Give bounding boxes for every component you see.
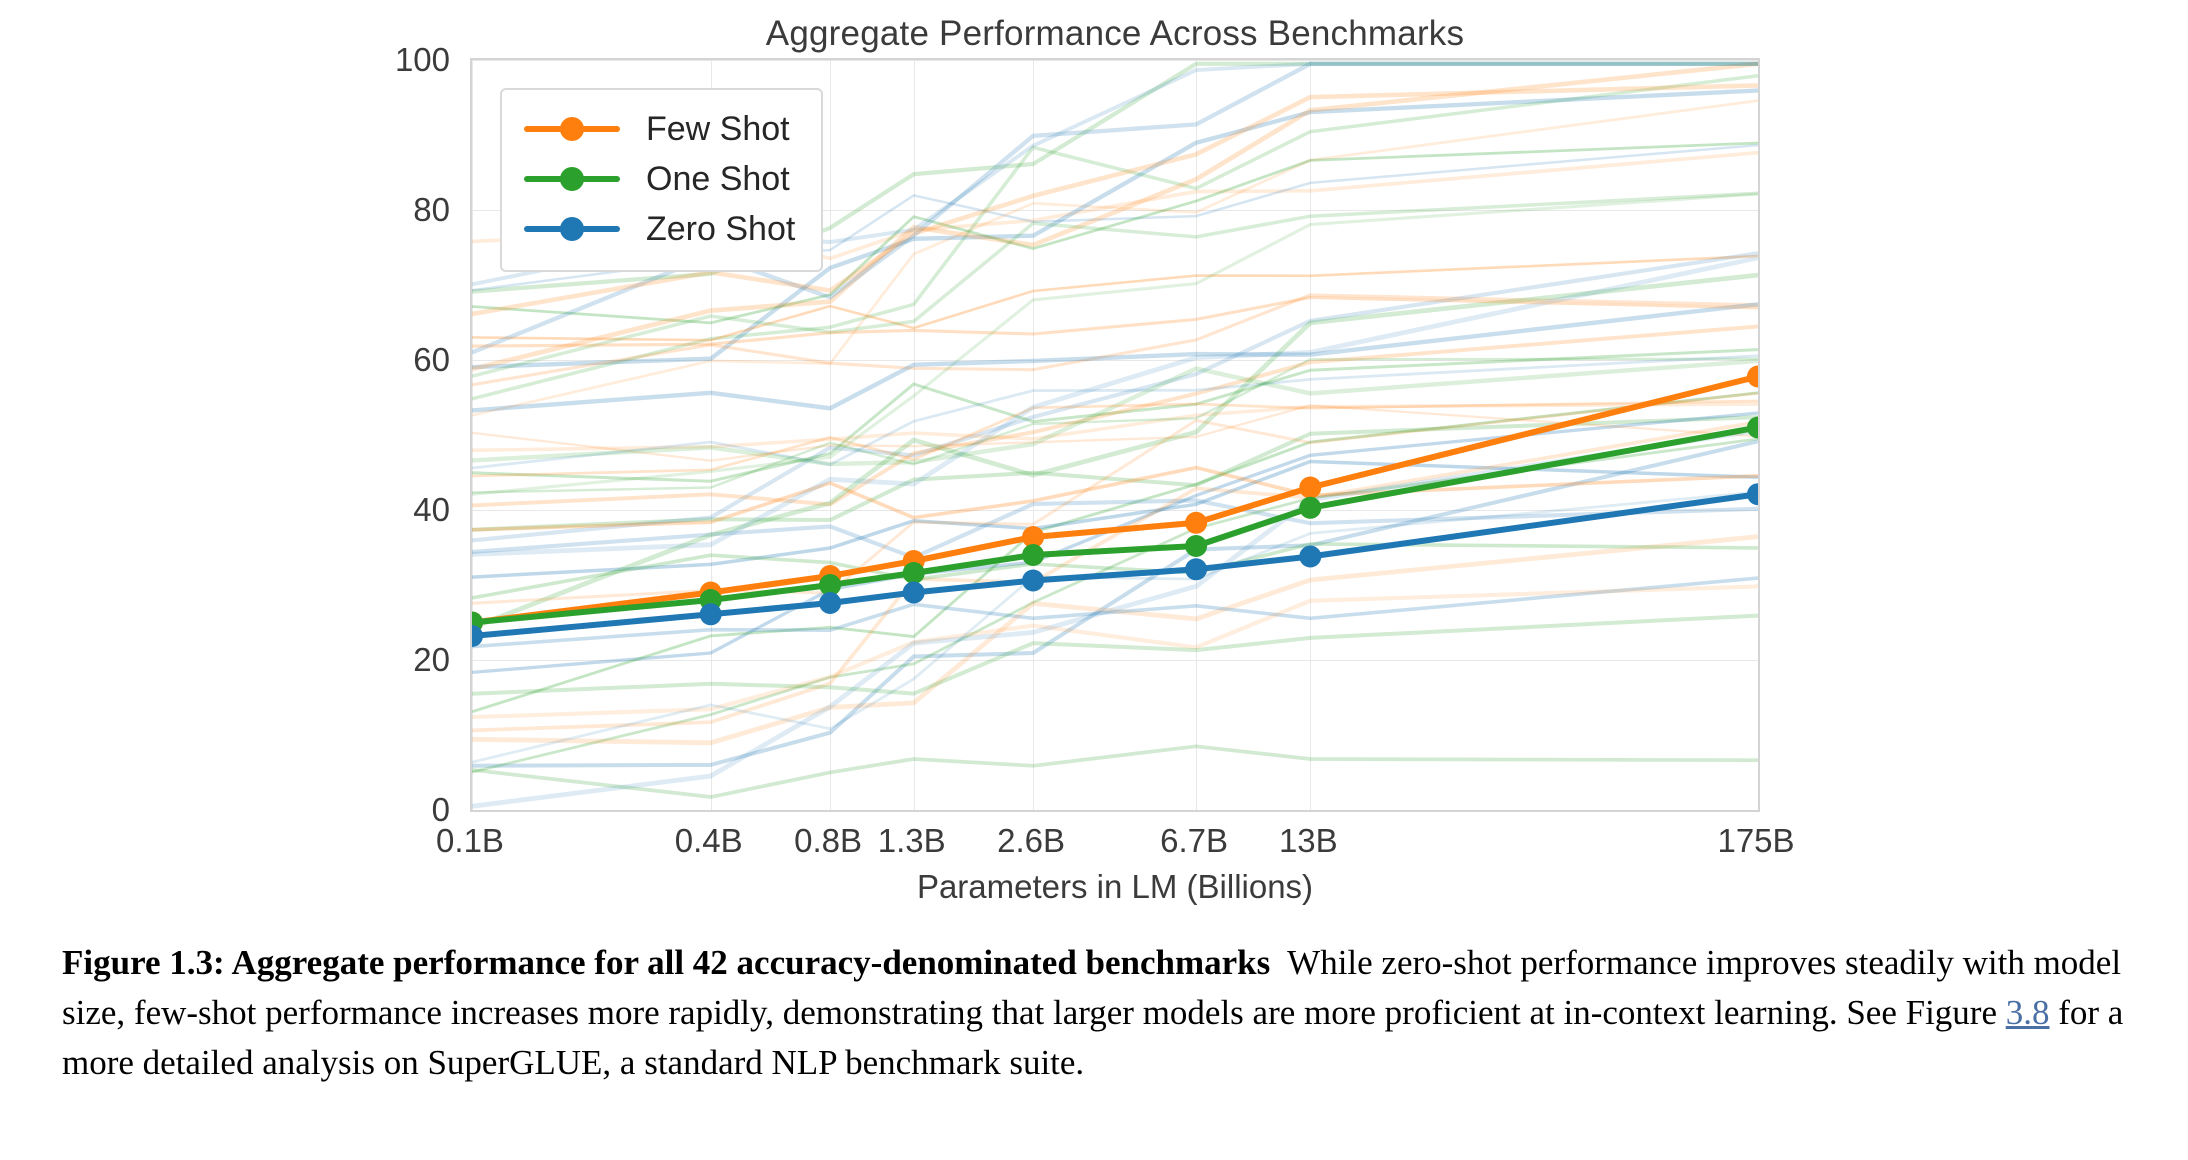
legend-marker-few-shot [524, 119, 620, 139]
figure-3-8-link[interactable]: 3.8 [2006, 993, 2050, 1032]
y-axis-tick-label: 60 [330, 341, 450, 379]
x-axis-tick-label: 0.1B [436, 822, 504, 860]
y-axis-tick-label: 0 [330, 791, 450, 829]
x-axis-tick-label: 2.6B [997, 822, 1065, 860]
chart-title: Aggregate Performance Across Benchmarks [470, 14, 1760, 54]
y-axis-ticks: 020406080100 [330, 58, 450, 812]
data-point-zero-shot [903, 582, 925, 604]
legend-item-one-shot[interactable]: One Shot [524, 154, 795, 204]
data-point-one-shot [1185, 535, 1207, 557]
data-point-one-shot [903, 562, 925, 584]
figure-1-3: Aggregate Performance Across Benchmarks … [0, 0, 2188, 900]
data-point-zero-shot [1185, 558, 1207, 580]
data-point-few-shot [1747, 366, 1758, 388]
data-point-zero-shot [1022, 570, 1044, 592]
data-point-zero-shot [1299, 546, 1321, 568]
data-point-few-shot [1185, 512, 1207, 534]
data-point-one-shot [1299, 497, 1321, 519]
plot-area: Few Shot One Shot Zero Shot [470, 58, 1760, 812]
chart: Aggregate Performance Across Benchmarks … [0, 0, 2188, 900]
legend-marker-zero-shot [524, 219, 620, 239]
data-point-one-shot [1022, 544, 1044, 566]
y-axis-tick-label: 100 [330, 41, 450, 79]
legend-label-few-shot: Few Shot [646, 110, 790, 149]
y-axis-tick-label: 80 [330, 191, 450, 229]
data-point-zero-shot [819, 592, 841, 614]
data-point-few-shot [1299, 477, 1321, 499]
legend-marker-one-shot [524, 169, 620, 189]
x-axis-tick-label: 1.3B [878, 822, 946, 860]
y-axis-tick-label: 20 [330, 641, 450, 679]
x-axis-tick-label: 175B [1717, 822, 1794, 860]
legend-label-one-shot: One Shot [646, 160, 790, 199]
caption-bold-lead: Figure 1.3: Aggregate performance for al… [62, 943, 1270, 982]
series-line-few-shot [472, 377, 1758, 623]
x-axis-tick-label: 6.7B [1160, 822, 1228, 860]
x-axis-label: Parameters in LM (Billions) [470, 868, 1760, 906]
data-point-zero-shot [700, 603, 722, 625]
data-point-one-shot [1747, 417, 1758, 439]
legend-label-zero-shot: Zero Shot [646, 210, 795, 249]
legend-item-zero-shot[interactable]: Zero Shot [524, 204, 795, 254]
series-line-zero-shot [472, 494, 1758, 636]
y-axis-tick-label: 40 [330, 491, 450, 529]
x-axis-tick-label: 0.8B [794, 822, 862, 860]
series-line-one-shot [472, 428, 1758, 623]
x-axis-tick-label: 13B [1279, 822, 1338, 860]
data-point-zero-shot [472, 625, 483, 647]
gridline-horizontal [472, 810, 1758, 811]
chart-legend: Few Shot One Shot Zero Shot [500, 88, 823, 272]
data-point-zero-shot [1747, 483, 1758, 505]
legend-item-few-shot[interactable]: Few Shot [524, 104, 795, 154]
gridline-vertical [1758, 60, 1759, 810]
figure-caption: Figure 1.3: Aggregate performance for al… [62, 938, 2130, 1088]
x-axis-ticks: 0.1B0.4B0.8B1.3B2.6B6.7B13B175B [470, 822, 1760, 866]
x-axis-tick-label: 0.4B [675, 822, 743, 860]
